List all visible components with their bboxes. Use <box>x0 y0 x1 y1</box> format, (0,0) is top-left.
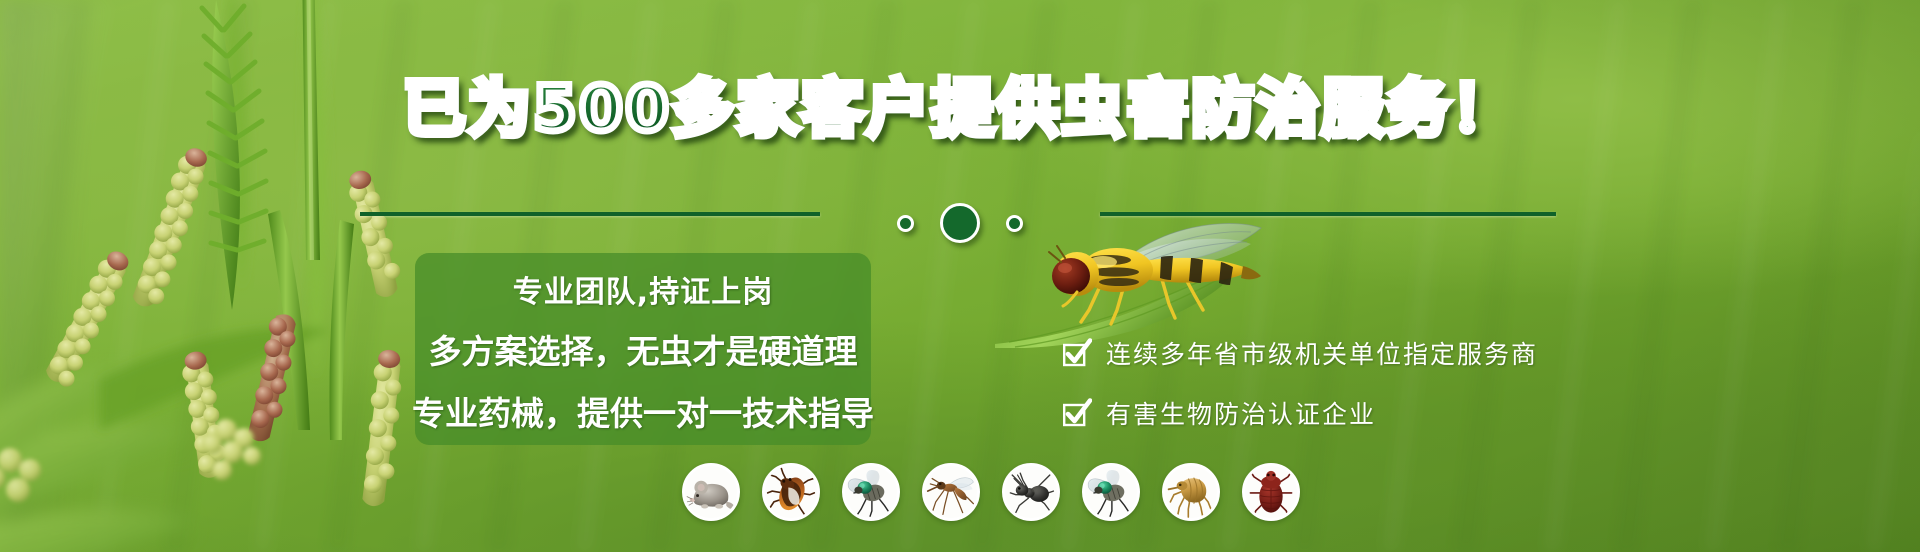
pest-circle-bedbug[interactable] <box>1242 463 1300 521</box>
pest-circle-mouse[interactable] <box>682 463 740 521</box>
pest-control-banner: 已为500多家客户提供虫害防治服务！ 已为500多家客户提供虫害防治服务！ 专业… <box>0 0 1920 552</box>
pest-circle-fly-2[interactable] <box>1082 463 1140 521</box>
feature-panel-line-3: 专业药械，提供一对一技术指导 <box>412 387 874 435</box>
checklist-item-label: 有害生物防治认证企业 <box>1106 395 1376 431</box>
checklist-item-label: 连续多年省市级机关单位指定服务商 <box>1106 335 1538 371</box>
feature-panel-line-1: 专业团队,持证上岗 <box>513 267 773 311</box>
checklist-item: 连续多年省市级机关单位指定服务商 <box>1062 335 1538 371</box>
divider-dot-large <box>940 203 980 243</box>
feature-panel: 专业团队,持证上岗 多方案选择，无虫才是硬道理 专业药械，提供一对一技术指导 <box>415 253 871 445</box>
checkbox-checked-icon <box>1062 338 1092 368</box>
pest-circle-flea[interactable] <box>1162 463 1220 521</box>
feature-panel-line-2: 多方案选择，无虫才是硬道理 <box>429 325 858 373</box>
pest-circle-cockroach[interactable] <box>762 463 820 521</box>
checklist: 连续多年省市级机关单位指定服务商 有害生物防治认证企业 <box>1062 335 1538 431</box>
pest-circle-fly[interactable] <box>842 463 900 521</box>
divider-line-right <box>1100 212 1556 216</box>
pest-circle-ant[interactable] <box>1002 463 1060 521</box>
divider-dot-small-left <box>897 215 914 232</box>
pest-circle-mosquito[interactable] <box>922 463 980 521</box>
checklist-item: 有害生物防治认证企业 <box>1062 395 1538 431</box>
headline-divider <box>0 203 1920 243</box>
hoverfly-icon <box>985 218 1315 348</box>
divider-line-left <box>360 212 820 216</box>
pest-icon-row <box>682 463 1300 521</box>
checkbox-checked-icon <box>1062 398 1092 428</box>
